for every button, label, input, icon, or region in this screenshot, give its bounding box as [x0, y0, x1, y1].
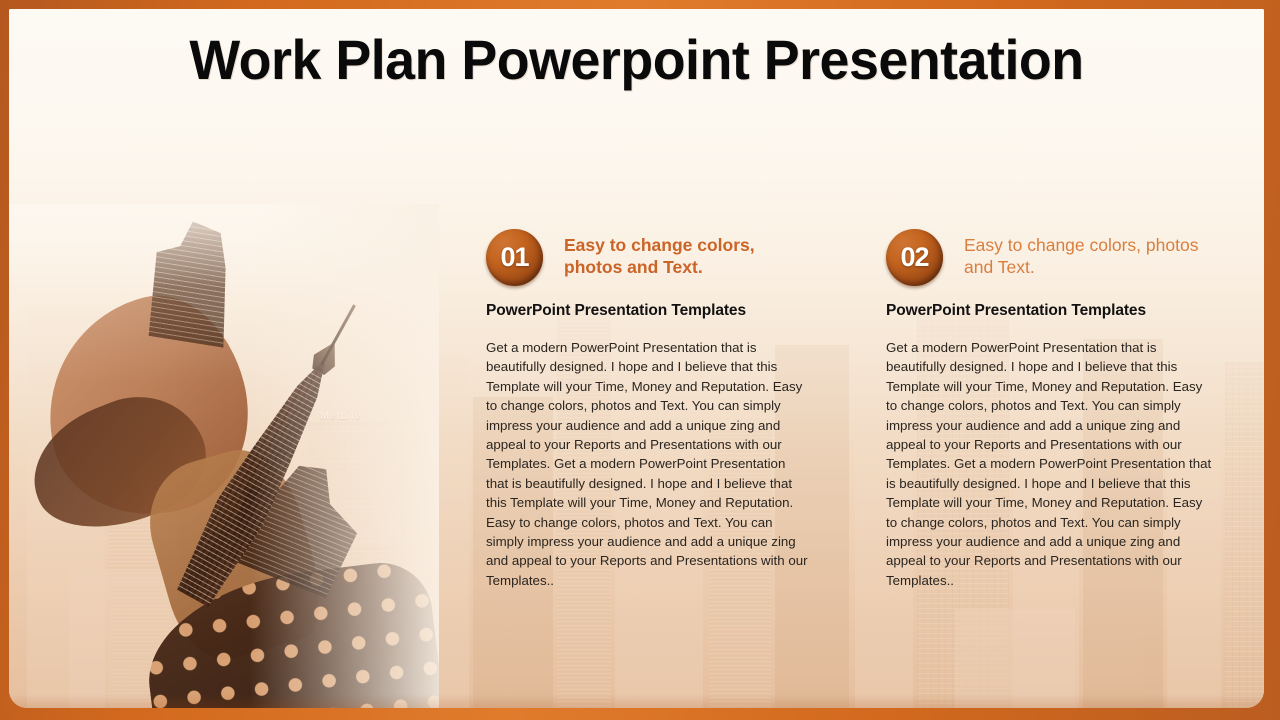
column-2-header: 02 Easy to change colors, photos and Tex…: [886, 229, 1216, 291]
portrait-fade-overlay: [9, 204, 439, 708]
column-2-body-text: Get a modern PowerPoint Presentation tha…: [886, 338, 1216, 590]
step-badge-01-number: 01: [486, 229, 543, 286]
step-badge-01: 01: [486, 229, 543, 286]
column-1-kicker: Easy to change colors, photos and Text.: [564, 229, 811, 279]
column-1-subheading: PowerPoint Presentation Templates: [486, 302, 811, 320]
page-title: Work Plan Powerpoint Presentation: [34, 31, 1239, 90]
column-2-kicker: Easy to change colors, photos and Text.: [964, 229, 1216, 279]
content-column-2: 02 Easy to change colors, photos and Tex…: [886, 229, 1216, 590]
step-badge-02-number: 02: [886, 229, 943, 286]
column-2-subheading: PowerPoint Presentation Templates: [886, 302, 1216, 320]
slide-frame: MetLife Work Plan Powerpoint Presentatio…: [0, 0, 1280, 720]
step-badge-02: 02: [886, 229, 943, 286]
slide-canvas: MetLife Work Plan Powerpoint Presentatio…: [9, 9, 1264, 708]
content-column-1: 01 Easy to change colors, photos and Tex…: [486, 229, 811, 590]
double-exposure-portrait-image: [9, 204, 439, 708]
column-1-header: 01 Easy to change colors, photos and Tex…: [486, 229, 811, 291]
column-1-body-text: Get a modern PowerPoint Presentation tha…: [486, 338, 811, 590]
